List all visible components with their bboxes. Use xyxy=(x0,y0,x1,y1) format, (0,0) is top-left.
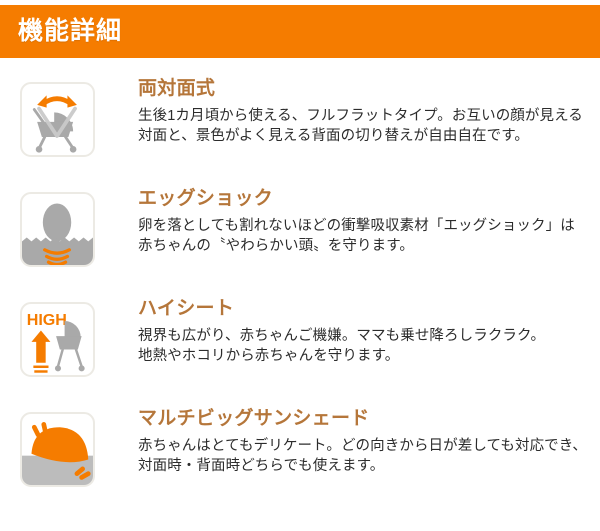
multi-big-sunshade-icon xyxy=(20,412,95,487)
feature-title: 両対面式 xyxy=(138,78,583,100)
reversible-stroller-icon xyxy=(20,82,95,157)
feature-desc-line: 卵を落としても割れないほどの衝撃吸収素材「エッグショック」は xyxy=(138,216,575,237)
feature-item-reversible: 両対面式 生後1カ月頃から使える、フルフラットタイプ。お互いの顔が見える 対面と… xyxy=(0,70,600,180)
feature-item-egg-shock: エッグショック 卵を落としても割れないほどの衝撃吸収素材「エッグショック」は 赤… xyxy=(0,180,600,290)
feature-item-sunshade: マルチビッグサンシェード 赤ちゃんはとてもデリケート。どの向きから日が差しても対… xyxy=(0,400,600,510)
page-header-bar: 機能詳細 xyxy=(0,5,600,58)
high-seat-icon: HIGH xyxy=(20,302,95,377)
feature-description: 生後1カ月頃から使える、フルフラットタイプ。お互いの顔が見える 対面と、景色がよ… xyxy=(138,106,583,147)
feature-title: エッグショック xyxy=(138,188,575,210)
feature-list: 両対面式 生後1カ月頃から使える、フルフラットタイプ。お互いの顔が見える 対面と… xyxy=(0,70,600,510)
feature-text-block: ハイシート 視界も広がり、赤ちゃんご機嫌。ママも乗せ降ろしラクラク。 地熱やホコ… xyxy=(138,290,545,367)
egg-shock-icon xyxy=(20,192,95,267)
feature-desc-line: 赤ちゃんの〝やわらかい頭〟を守ります。 xyxy=(138,236,575,257)
feature-desc-line: 対面と、景色がよく見える背面の切り替えが自由自在です。 xyxy=(138,126,583,147)
feature-desc-line: 対面時・背面時どちらでも使えます。 xyxy=(138,456,587,477)
feature-item-high-seat: HIGH ハイシート 視界も広がり、赤ちゃんご機嫌。ママも乗せ降ろしラクラク。 … xyxy=(0,290,600,400)
feature-desc-line: 生後1カ月頃から使える、フルフラットタイプ。お互いの顔が見える xyxy=(138,106,583,127)
feature-desc-line: 視界も広がり、赤ちゃんご機嫌。ママも乗せ降ろしラクラク。 xyxy=(138,326,545,347)
feature-description: 赤ちゃんはとてもデリケート。どの向きから日が差しても対応でき、 対面時・背面時ど… xyxy=(138,436,587,477)
feature-desc-line: 地熱やホコリから赤ちゃんを守ります。 xyxy=(138,346,545,367)
page-title: 機能詳細 xyxy=(18,19,122,44)
feature-text-block: マルチビッグサンシェード 赤ちゃんはとてもデリケート。どの向きから日が差しても対… xyxy=(138,400,587,477)
feature-text-block: エッグショック 卵を落としても割れないほどの衝撃吸収素材「エッグショック」は 赤… xyxy=(138,180,575,257)
feature-description: 視界も広がり、赤ちゃんご機嫌。ママも乗せ降ろしラクラク。 地熱やホコリから赤ちゃ… xyxy=(138,326,545,367)
feature-title: マルチビッグサンシェード xyxy=(138,408,587,430)
feature-desc-line: 赤ちゃんはとてもデリケート。どの向きから日が差しても対応でき、 xyxy=(138,436,587,457)
feature-description: 卵を落としても割れないほどの衝撃吸収素材「エッグショック」は 赤ちゃんの〝やわら… xyxy=(138,216,575,257)
high-seat-icon-label: HIGH xyxy=(27,311,67,329)
feature-text-block: 両対面式 生後1カ月頃から使える、フルフラットタイプ。お互いの顔が見える 対面と… xyxy=(138,70,583,147)
feature-title: ハイシート xyxy=(138,298,545,320)
